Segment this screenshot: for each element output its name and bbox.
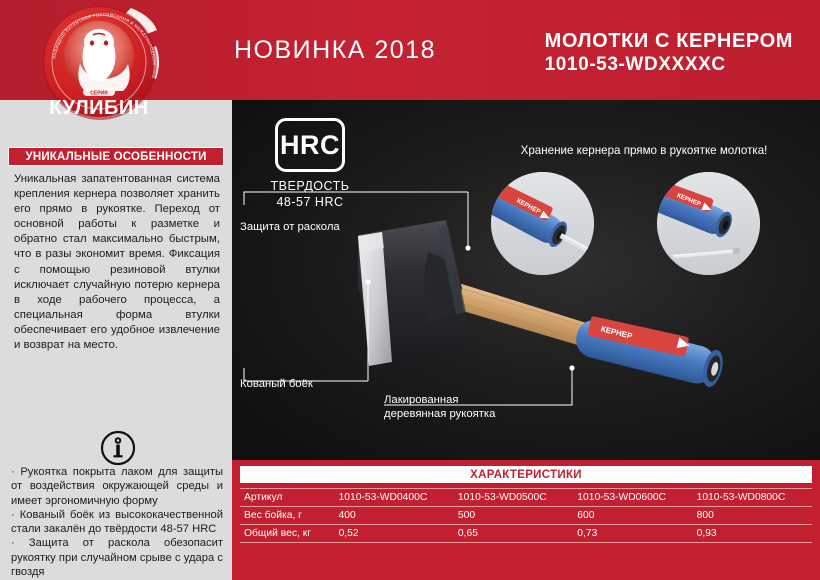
row-header: Вес бойка, г xyxy=(240,507,335,525)
bullet-item: · Рукоятка покрыта лаком для защиты от в… xyxy=(11,465,223,508)
novelty-label: НОВИНКА 2018 xyxy=(234,36,436,65)
table-cell: 0,93 xyxy=(693,525,812,543)
specifications-title: ХАРАКТЕРИСТИКИ xyxy=(240,466,812,483)
logo-brand: КУЛИБИН xyxy=(49,97,149,119)
product-title: МОЛОТКИ С КЕРНЕРОМ xyxy=(545,29,793,53)
info-icon xyxy=(100,430,136,466)
feature-bullets: · Рукоятка покрыта лаком для защиты от в… xyxy=(11,465,223,579)
callout-lacquered-handle: Лакированная деревянная рукоятка xyxy=(384,393,495,421)
table-cell: 1010-53-WD0600C xyxy=(573,489,692,507)
table-cell: 0,65 xyxy=(454,525,573,543)
product-showcase: HRC ТВЕРДОСТЬ 48-57 HRC Хранение кернера… xyxy=(232,100,820,460)
features-description: Уникальная запатентованная система крепл… xyxy=(14,172,220,353)
table-row: Артикул 1010-53-WD0400C 1010-53-WD0500C … xyxy=(240,489,812,507)
row-header: Общий вес, кг xyxy=(240,525,335,543)
sidebar: УНИКАЛЬНЫЕ ОСОБЕННОСТИ Уникальная запате… xyxy=(0,100,232,580)
table-cell: 1010-53-WD0400C xyxy=(335,489,454,507)
callout-forged-head: Кованый боёк xyxy=(240,377,313,391)
logo-series: СЕРИЯ xyxy=(90,90,108,96)
bullet-item: · Кованый боёк из высококачественной ста… xyxy=(11,508,223,537)
table-cell: 1010-53-WD0500C xyxy=(454,489,573,507)
product-code: 1010-53-WDXXXXC xyxy=(545,53,793,77)
table-cell: 0,52 xyxy=(335,525,454,543)
table-cell: 500 xyxy=(454,507,573,525)
features-banner: УНИКАЛЬНЫЕ ОСОБЕННОСТИ xyxy=(8,147,224,166)
callout-split-protection: Защита от раскола xyxy=(240,220,340,234)
table-cell: 800 xyxy=(693,507,812,525)
table-cell: 1010-53-WD0800C xyxy=(693,489,812,507)
product-heading: МОЛОТКИ С КЕРНЕРОМ 1010-53-WDXXXXC xyxy=(545,29,793,77)
table-cell: 600 xyxy=(573,507,692,525)
specifications-section: ХАРАКТЕРИСТИКИ Артикул 1010-53-WD0400C 1… xyxy=(232,460,820,580)
table-cell: 0,73 xyxy=(573,525,692,543)
brand-logo: ЗАЩИЩЕНО ПАТЕНТАМИ РОССИЙСКИМИ И МЕЖДУНА… xyxy=(28,2,180,126)
row-header: Артикул xyxy=(240,489,335,507)
table-row: Общий вес, кг 0,52 0,65 0,73 0,93 xyxy=(240,525,812,543)
table-cell: 400 xyxy=(335,507,454,525)
hammer-illustration: КЕРНЕР xyxy=(232,100,820,460)
product-sheet: НОВИНКА 2018 МОЛОТКИ С КЕРНЕРОМ 1010-53-… xyxy=(0,0,820,580)
bullet-item: · Защита от раскола обезопасит рукоятку … xyxy=(11,536,223,579)
specifications-table: Артикул 1010-53-WD0400C 1010-53-WD0500C … xyxy=(240,488,812,543)
table-row: Вес бойка, г 400 500 600 800 xyxy=(240,507,812,525)
